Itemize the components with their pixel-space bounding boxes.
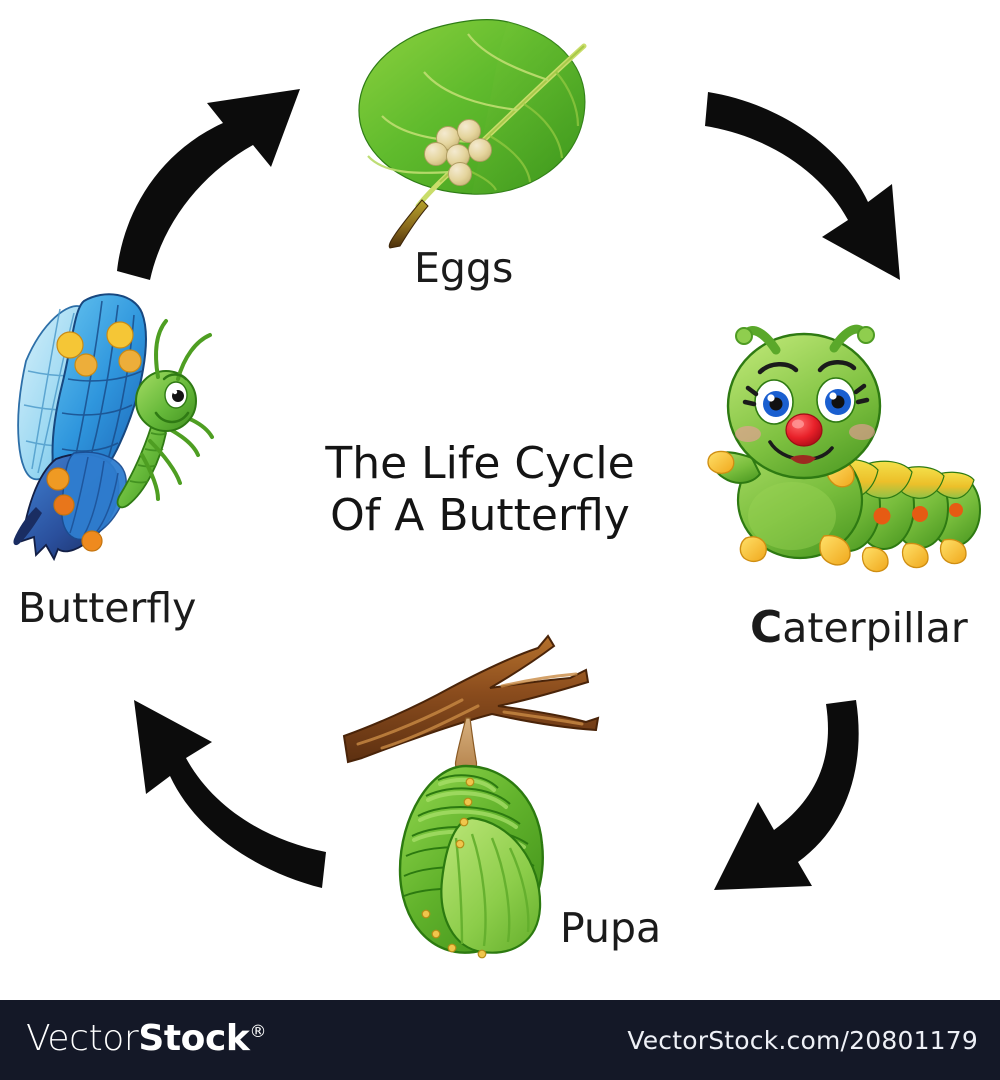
stage-label-caterpillar: Caterpillar [750,606,968,650]
arrow-caterpillar-to-pupa [700,690,925,905]
title-line-2: Of A Butterfly [290,490,670,542]
registered-trademark-icon: ® [249,1022,266,1042]
stage-label-eggs: Eggs [414,248,513,289]
poster-canvas: Eggs [0,0,1000,1080]
arrow-eggs-to-caterpillar [700,80,930,298]
arrow-pupa-to-butterfly [100,690,330,902]
page-title: The Life Cycle Of A Butterfly [290,438,670,542]
caterpillar-label-rest: aterpillar [782,604,967,652]
watermark-url: VectorStock.com/20801179 [627,1026,978,1055]
stage-label-pupa: Pupa [560,908,661,949]
logo-text-stock: Stock [138,1018,249,1059]
arrow-butterfly-to-eggs [95,75,345,290]
watermark-bar: VectorStock® VectorStock.com/20801179 [0,1000,1000,1080]
title-line-1: The Life Cycle [290,438,670,490]
eggs-illustration [332,14,632,249]
vectorstock-logo: VectorStock® [26,1017,266,1060]
caterpillar-illustration [708,310,998,595]
stage-label-butterfly: Butterfly [18,588,196,629]
caterpillar-label-initial: C [750,602,782,653]
logo-text-vector: Vector [26,1018,138,1059]
butterfly-illustration [8,283,248,583]
